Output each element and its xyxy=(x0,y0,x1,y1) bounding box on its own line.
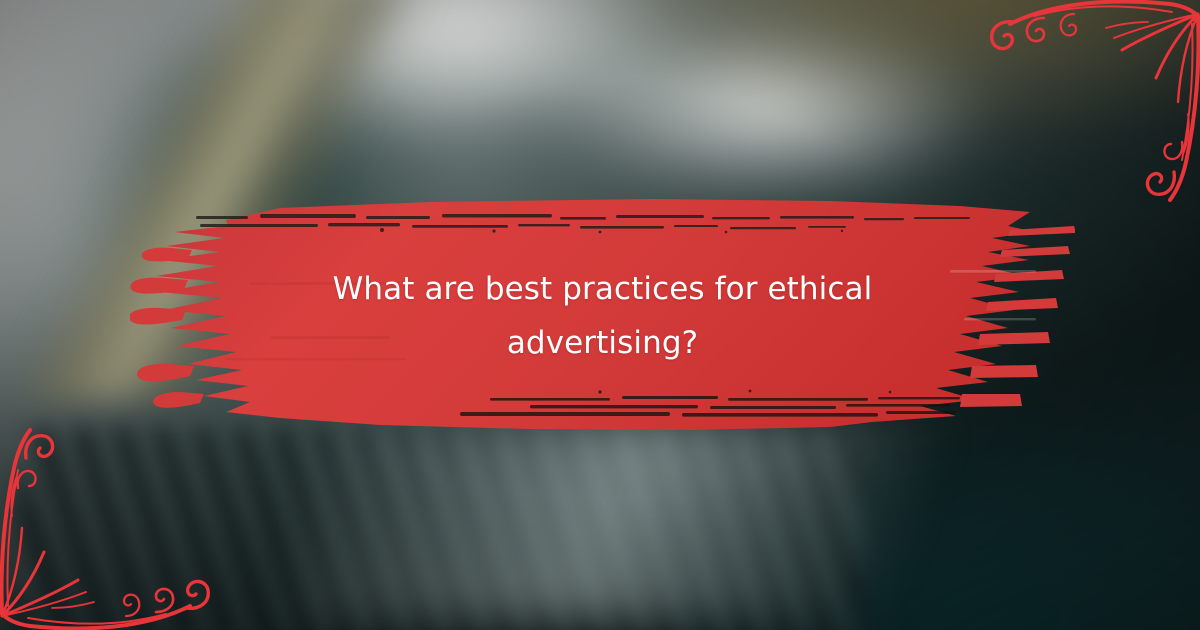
corner-flourish-top-right-icon xyxy=(974,0,1200,209)
banner-card: What are best practices for ethical adve… xyxy=(0,0,1200,630)
page-title: What are best practices for ethical adve… xyxy=(180,262,1025,370)
corner-flourish-bottom-left-icon xyxy=(0,421,226,630)
